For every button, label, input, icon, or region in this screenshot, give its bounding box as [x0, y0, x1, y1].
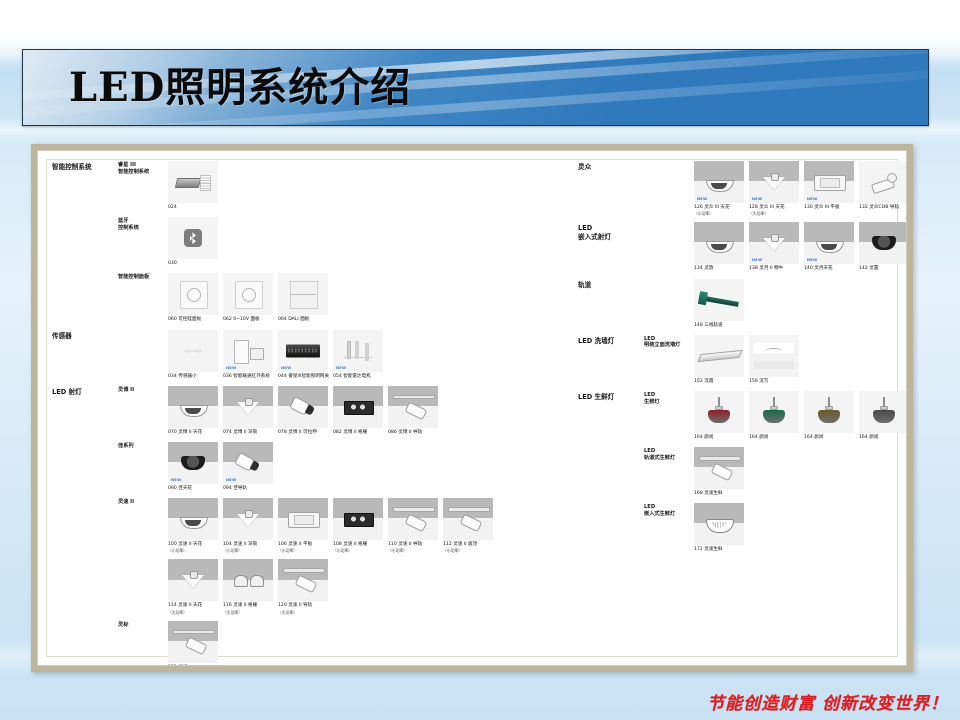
cob-icon: [871, 172, 897, 192]
product-thumbnail: [278, 273, 328, 315]
product-caption: 120 灵速 II 导轨（大功率）: [278, 603, 328, 614]
product-thumbnail: NEW: [804, 161, 854, 203]
product-caption: 164 颜尚: [859, 435, 907, 441]
product-thumbnail: [168, 273, 218, 315]
pendant-icon: [707, 397, 731, 427]
product-caption: 114 灵速 II 天花（大功率）: [168, 603, 218, 614]
product-thumbnail: [223, 273, 273, 315]
track-icon: [173, 630, 213, 654]
subgroup-title: 蓝牙控制系统: [118, 218, 164, 232]
product-tile[interactable]: 086 灵博 II 导轨: [388, 386, 438, 436]
subgroup-title: LED明装立面洗墙灯: [644, 336, 690, 350]
category-block: LED 洗墙灯LED明装立面洗墙灯152 流霞156 流写: [578, 335, 896, 385]
product-thumbnail: NEW: [804, 222, 854, 264]
product-tile[interactable]: NEW130 灵众 III 平板: [804, 161, 854, 216]
blackbox-icon: [286, 344, 320, 357]
cone-icon: [237, 510, 259, 528]
subgroup-title: LED轨道式生鲜灯: [644, 448, 690, 462]
product-tile[interactable]: 164 颜尚: [694, 391, 744, 441]
product-tile[interactable]: 132 灵众COB 导轨: [859, 161, 907, 216]
product-thumbnail: [278, 386, 328, 428]
product-caption: 090 佳天花: [168, 486, 218, 492]
new-badge: NEW: [752, 258, 762, 262]
product-caption: 108 灵速 II 格栅（小功率）: [333, 542, 383, 553]
product-thumbnail: [749, 391, 799, 433]
product-row: 060 可控硅面板062 0~10V 面板064 DALI 面板: [118, 273, 572, 323]
product-tile[interactable]: NEW126 灵众 III 天花（小功率）: [694, 161, 744, 216]
product-thumbnail: [278, 498, 328, 540]
product-caption-sub: （小功率）: [443, 548, 493, 553]
product-caption-sub: （大功率）: [749, 211, 799, 216]
product-caption-sub: （大功率）: [168, 610, 218, 615]
driver-icon: [176, 173, 210, 191]
category-block: 传感器034 传感器小NEW036 智能联通红外系统NEW044 睿星III智能…: [52, 330, 572, 380]
new-badge: NEW: [807, 258, 817, 262]
product-row: 148 三线轨道: [644, 279, 896, 329]
product-thumbnail: NEW: [694, 161, 744, 203]
product-thumbnail: [694, 335, 744, 377]
product-caption: 064 DALI 面板: [278, 317, 328, 323]
pendant-icon: [817, 397, 841, 427]
panel-icon: [814, 175, 844, 189]
product-thumbnail: NEW: [749, 161, 799, 203]
catalog-frame: 智能控制系统睿星 III智能控制系统024蓝牙控制系统030智能控制面板060 …: [31, 144, 913, 672]
cone-icon: [182, 571, 204, 589]
subgroup-block: 148 三线轨道: [578, 279, 896, 329]
product-thumbnail: [333, 498, 383, 540]
product-caption: 152 流霞: [694, 379, 744, 385]
subgroup-block: NEW126 灵众 III 天花（小功率）NEW128 灵众 III 天花（大功…: [578, 161, 896, 216]
product-caption: 044 睿星III智能照明网关: [278, 374, 328, 380]
subgroup-title: 灵标: [118, 622, 164, 629]
page-title: LED照明系统介绍: [23, 50, 928, 125]
product-tile[interactable]: 156 流写: [749, 335, 799, 385]
product-tile[interactable]: 164 颜尚: [749, 391, 799, 441]
product-tile[interactable]: 082 灵博 II 格栅: [333, 386, 383, 436]
new-badge: NEW: [336, 366, 346, 370]
product-caption-sub: （小功率）: [278, 548, 328, 553]
subgroup-block: 蓝牙控制系统030: [52, 217, 572, 267]
cone-icon: [763, 173, 785, 191]
product-thumbnail: [223, 386, 273, 428]
product-tile[interactable]: 112 灵速 II 吸顶（小功率）: [443, 498, 493, 553]
category-block: LED 生鲜灯LED生鲜灯164 颜尚164 颜尚164 颜尚164 颜尚LED…: [578, 391, 896, 554]
product-caption: 074 灵博 II 深筒: [223, 430, 273, 436]
pendant-icon: [872, 397, 896, 427]
knob-icon: [180, 281, 206, 307]
subgroup-block: LED生鲜灯164 颜尚164 颜尚164 颜尚164 颜尚: [578, 391, 896, 441]
product-tile[interactable]: NEW094 佳导轨: [223, 442, 273, 492]
product-thumbnail: [694, 447, 744, 489]
subgroup-block: 灵博 II070 灵博 II 天花074 灵博 II 深筒078 灵博 II 可…: [52, 386, 572, 436]
product-thumbnail: NEW: [223, 330, 273, 372]
gateway-icon: [234, 340, 262, 362]
product-caption: 110 灵速 II 导轨（小功率）: [388, 542, 438, 553]
product-caption: 164 颜尚: [694, 435, 744, 441]
product-row: 030: [118, 217, 572, 267]
product-thumbnail: NEW: [749, 222, 799, 264]
subgroup-block: 134 灵放NEW138 灵月 II 畅牛NEW140 灵月天花142 灵置: [578, 222, 896, 272]
catalog-column-right: 灵众NEW126 灵众 III 天花（小功率）NEW128 灵众 III 天花（…: [578, 161, 896, 559]
product-thumbnail: NEW: [223, 442, 273, 484]
product-caption: 078 灵博 II 可拉伸: [278, 430, 328, 436]
product-tile[interactable]: 152 流霞: [694, 335, 744, 385]
pendant-shade: [818, 410, 840, 423]
product-caption: 164 颜尚: [804, 435, 854, 441]
product-thumbnail: [443, 498, 493, 540]
downlight-icon: [706, 174, 732, 190]
product-row: 134 灵放NEW138 灵月 II 畅牛NEW140 灵月天花142 灵置: [644, 222, 896, 272]
product-thumbnail: [168, 498, 218, 540]
product-thumbnail: [859, 391, 907, 433]
product-caption: 168 灵速生鲜: [694, 491, 744, 497]
new-badge: NEW: [697, 197, 707, 201]
subgroup-block: LED明装立面洗墙灯152 流霞156 流写: [578, 335, 896, 385]
product-row: NEW090 佳天花NEW094 佳导轨: [118, 442, 572, 492]
product-thumbnail: [168, 161, 218, 203]
product-thumbnail: [278, 559, 328, 601]
new-badge: NEW: [171, 478, 181, 482]
subgroup-title: LED生鲜灯: [644, 392, 690, 406]
product-tile[interactable]: NEW138 灵月 II 畅牛: [749, 222, 799, 272]
product-caption: 148 三线轨道: [694, 323, 744, 329]
product-thumbnail: NEW: [333, 330, 383, 372]
product-caption: 082 灵博 II 格栅: [333, 430, 383, 436]
product-tile[interactable]: NEW036 智能联通红外系统: [223, 330, 273, 380]
product-tile[interactable]: 078 灵博 II 可拉伸: [278, 386, 328, 436]
doublelamp-icon: [233, 574, 263, 586]
product-caption: 140 灵月天花: [804, 266, 854, 272]
product-tile[interactable]: 172 灵速生鲜: [694, 503, 744, 553]
product-tile[interactable]: 024: [168, 161, 218, 211]
product-tile[interactable]: 168 灵速生鲜: [694, 447, 744, 497]
product-caption: 030: [168, 261, 218, 267]
product-tile[interactable]: 122 灵标: [168, 621, 218, 666]
product-caption: 126 灵众 III 天花（小功率）: [694, 205, 744, 216]
subgroup-block: 智能控制面板060 可控硅面板062 0~10V 面板064 DALI 面板: [52, 273, 572, 323]
antenna-icon: [344, 341, 372, 361]
product-tile[interactable]: NEW054 智能雷达电机: [333, 330, 383, 380]
downlight-icon: [706, 235, 732, 251]
subgroup-block: 灵速 II100 灵速 II 天花（小功率）104 灵速 II 深筒（小功率）1…: [52, 498, 572, 553]
category-block: 轨道148 三线轨道: [578, 279, 896, 329]
product-tile[interactable]: 148 三线轨道: [694, 279, 744, 329]
product-tile[interactable]: 110 灵速 II 导轨（小功率）: [388, 498, 438, 553]
product-caption: 142 灵置: [859, 266, 907, 272]
track-icon: [283, 568, 323, 592]
product-caption: 054 智能雷达电机: [333, 374, 383, 380]
product-caption-sub: （大功率）: [223, 610, 273, 615]
product-caption: 164 颜尚: [749, 435, 799, 441]
product-caption: 086 灵博 II 导轨: [388, 430, 438, 436]
category-block: 灵众NEW126 灵众 III 天花（小功率）NEW128 灵众 III 天花（…: [578, 161, 896, 216]
product-row: 122 灵标: [118, 621, 572, 666]
product-tile[interactable]: 074 灵博 II 深筒: [223, 386, 273, 436]
product-caption-sub: （小功率）: [388, 548, 438, 553]
product-row: 114 灵速 II 天花（大功率）116 灵速 II 格栅（大功率）120 灵速…: [118, 559, 572, 614]
product-row: NEW126 灵众 III 天花（小功率）NEW128 灵众 III 天花（大功…: [644, 161, 896, 216]
product-thumbnail: [168, 330, 218, 372]
product-tile[interactable]: 116 灵速 II 格栅（大功率）: [223, 559, 273, 614]
bluetooth-icon: [184, 229, 202, 247]
product-tile[interactable]: 104 灵速 II 深筒（小功率）: [223, 498, 273, 553]
product-caption: 172 灵速生鲜: [694, 547, 744, 553]
product-caption: 132 灵众COB 导轨: [859, 205, 907, 211]
product-caption: 116 灵速 II 格栅（大功率）: [223, 603, 273, 614]
track-icon: [393, 507, 433, 531]
product-thumbnail: [859, 222, 907, 264]
product-caption: 156 流写: [749, 379, 799, 385]
product-caption-sub: （小功率）: [223, 548, 273, 553]
blackdl-icon: [872, 234, 896, 252]
pendant-shade: [873, 410, 895, 423]
product-tile[interactable]: NEW140 灵月天花: [804, 222, 854, 272]
product-caption: 104 灵速 II 深筒（小功率）: [223, 542, 273, 553]
product-thumbnail: [388, 498, 438, 540]
subgroup-title: 睿星 III智能控制系统: [118, 162, 164, 176]
product-caption: 112 灵速 II 吸顶（小功率）: [443, 542, 493, 553]
product-thumbnail: NEW: [278, 330, 328, 372]
product-tile[interactable]: 134 灵放: [694, 222, 744, 272]
product-thumbnail: [168, 386, 218, 428]
product-caption: 070 灵博 II 天花: [168, 430, 218, 436]
product-tile[interactable]: 064 DALI 面板: [278, 273, 328, 323]
product-row: 034 传感器小NEW036 智能联通红外系统NEW044 睿星III智能照明网…: [118, 330, 572, 380]
product-thumbnail: [223, 559, 273, 601]
subgroup-title: 佳系列: [118, 443, 164, 450]
product-thumbnail: [694, 391, 744, 433]
product-caption-sub: （小功率）: [168, 548, 218, 553]
product-tile[interactable]: 164 颜尚: [804, 391, 854, 441]
new-badge: NEW: [226, 478, 236, 482]
product-tile[interactable]: 164 颜尚: [859, 391, 907, 441]
product-thumbnail: [168, 621, 218, 663]
downlight-icon: [816, 235, 842, 251]
product-caption: 060 可控硅面板: [168, 317, 218, 323]
product-caption: 034 传感器小: [168, 374, 218, 380]
product-caption: 062 0~10V 面板: [223, 317, 273, 323]
catalog-columns: 智能控制系统睿星 III智能控制系统024蓝牙控制系统030智能控制面板060 …: [38, 151, 906, 665]
downlight-icon: [180, 511, 206, 527]
subgroup-block: LED轨道式生鲜灯168 灵速生鲜: [578, 447, 896, 497]
subgroup-block: 佳系列NEW090 佳天花NEW094 佳导轨: [52, 442, 572, 492]
product-row: 100 灵速 II 天花（小功率）104 灵速 II 深筒（小功率）106 灵速…: [118, 498, 572, 553]
product-caption: 100 灵速 II 天花（小功率）: [168, 542, 218, 553]
grille-icon: [344, 401, 372, 413]
product-thumbnail: [694, 503, 744, 545]
catalog-page: 智能控制系统睿星 III智能控制系统024蓝牙控制系统030智能控制面板060 …: [37, 150, 907, 666]
recessed-fresh-icon: [706, 516, 732, 532]
subgroup-block: 灵标122 灵标: [52, 621, 572, 666]
pendant-shade: [763, 410, 785, 423]
track-icon: [448, 507, 488, 531]
subgroup-title: LED嵌入式生鲜灯: [644, 504, 690, 518]
new-badge: NEW: [752, 197, 762, 201]
pendant-shade: [708, 410, 730, 423]
knob-icon: [235, 281, 261, 307]
product-caption-sub: （大功率）: [278, 610, 328, 615]
subgroup-title: 灵博 II: [118, 387, 164, 394]
downlight-icon: [180, 399, 206, 415]
product-tile[interactable]: NEW044 睿星III智能照明网关: [278, 330, 328, 380]
new-badge: NEW: [807, 197, 817, 201]
grille-icon: [344, 513, 372, 525]
sensor-sm-icon: [182, 345, 204, 357]
product-caption: 130 灵众 III 平板: [804, 205, 854, 211]
product-thumbnail: [168, 217, 218, 259]
wash-icon: [700, 349, 738, 363]
switch2-icon: [290, 281, 316, 307]
product-tile[interactable]: NEW128 灵众 III 天花（大功率）: [749, 161, 799, 216]
product-tile[interactable]: 070 灵博 II 天花: [168, 386, 218, 436]
product-tile[interactable]: 100 灵速 II 天花（小功率）: [168, 498, 218, 553]
panel-icon: [288, 512, 318, 526]
category-block: LED 射灯灵博 II070 灵博 II 天花074 灵博 II 深筒078 灵…: [52, 386, 572, 666]
product-thumbnail: [749, 335, 799, 377]
product-caption: 134 灵放: [694, 266, 744, 272]
product-thumbnail: [859, 161, 907, 203]
subgroup-title: 智能控制面板: [118, 274, 164, 281]
track-icon: [393, 395, 433, 419]
blackdl-icon: [181, 454, 205, 472]
washwall-icon: [754, 343, 794, 369]
product-thumbnail: [694, 222, 744, 264]
catalog-column-left: 智能控制系统睿星 III智能控制系统024蓝牙控制系统030智能控制面板060 …: [52, 161, 572, 666]
cone-icon: [763, 234, 785, 252]
product-tile[interactable]: 120 灵速 II 导轨（大功率）: [278, 559, 328, 614]
product-tile[interactable]: 034 传感器小: [168, 330, 218, 380]
product-thumbnail: [388, 386, 438, 428]
product-caption-sub: （小功率）: [694, 211, 744, 216]
product-thumbnail: NEW: [168, 442, 218, 484]
product-tile[interactable]: NEW090 佳天花: [168, 442, 218, 492]
product-thumbnail: [804, 391, 854, 433]
product-tile[interactable]: 030: [168, 217, 218, 267]
railgreen-icon: [699, 291, 739, 309]
subgroup-block: 睿星 III智能控制系统024: [52, 161, 572, 211]
subgroup-block: 114 灵速 II 天花（大功率）116 灵速 II 格栅（大功率）120 灵速…: [52, 559, 572, 614]
product-tile[interactable]: 114 灵速 II 天花（大功率）: [168, 559, 218, 614]
product-caption: 024: [168, 205, 218, 211]
product-caption: 094 佳导轨: [223, 486, 273, 492]
product-tile[interactable]: 106 灵速 II 平板（小功率）: [278, 498, 328, 553]
title-banner: LED照明系统介绍: [22, 49, 929, 126]
product-thumbnail: [223, 498, 273, 540]
cone-icon: [237, 398, 259, 416]
product-tile[interactable]: 142 灵置: [859, 222, 907, 272]
product-caption: 036 智能联通红外系统: [223, 374, 273, 380]
product-tile[interactable]: 062 0~10V 面板: [223, 273, 273, 323]
product-thumbnail: [333, 386, 383, 428]
subgroup-block: LED嵌入式生鲜灯172 灵速生鲜: [578, 503, 896, 553]
subgroup-block: 034 传感器小NEW036 智能联通红外系统NEW044 睿星III智能照明网…: [52, 330, 572, 380]
product-caption: 128 灵众 III 天花（大功率）: [749, 205, 799, 216]
new-badge: NEW: [226, 366, 236, 370]
pendant-icon: [762, 397, 786, 427]
category-block: 智能控制系统睿星 III智能控制系统024蓝牙控制系统030智能控制面板060 …: [52, 161, 572, 324]
footer-slogan: 节能创造财富 创新改变世界！: [707, 689, 948, 714]
new-badge: NEW: [281, 366, 291, 370]
product-row: 070 灵博 II 天花074 灵博 II 深筒078 灵博 II 可拉伸082…: [118, 386, 572, 436]
category-block: LED嵌入式射灯134 灵放NEW138 灵月 II 畅牛NEW140 灵月天花…: [578, 222, 896, 272]
product-thumbnail: [168, 559, 218, 601]
product-row: 024: [118, 161, 572, 211]
track-icon: [699, 456, 739, 480]
product-tile[interactable]: 060 可控硅面板: [168, 273, 218, 323]
product-caption-sub: （小功率）: [333, 548, 383, 553]
product-caption: 106 灵速 II 平板（小功率）: [278, 542, 328, 553]
product-caption: 122 灵标: [168, 665, 218, 666]
product-thumbnail: [694, 279, 744, 321]
subgroup-title: 灵速 II: [118, 499, 164, 506]
product-caption: 138 灵月 II 畅牛: [749, 266, 799, 272]
product-tile[interactable]: 108 灵速 II 格栅（小功率）: [333, 498, 383, 553]
